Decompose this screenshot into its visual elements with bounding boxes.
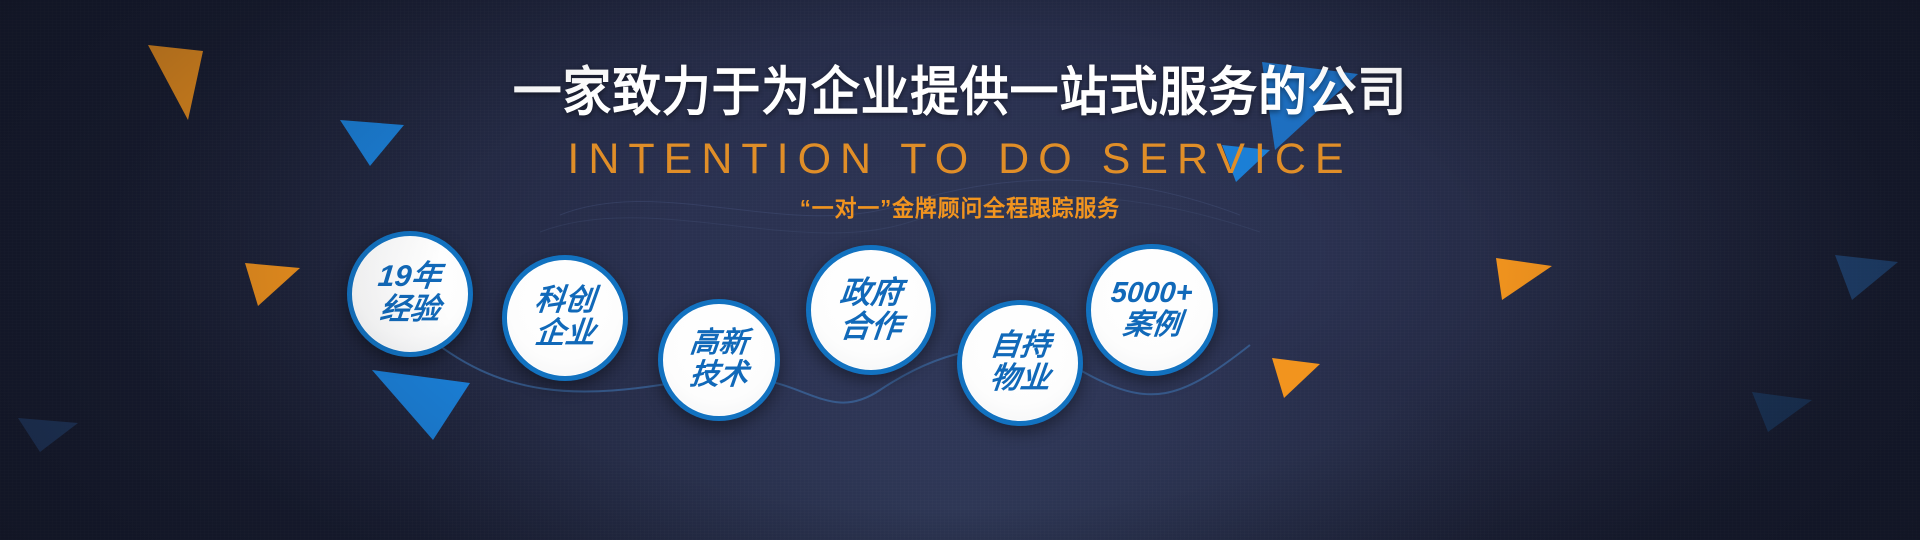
page-title: 一家致力于为企业提供一站式服务的公司 xyxy=(77,66,1843,119)
hero-banner: 一家致力于为企业提供一站式服务的公司 INTENTION TO DO SERVI… xyxy=(0,0,1920,540)
badge-high-tech[interactable]: 高新 技术 xyxy=(658,299,780,421)
triangle-blue-far-right xyxy=(1835,255,1898,300)
badge-tech-startup[interactable]: 科创 企业 xyxy=(502,255,628,381)
triangle-blue-far-left-bottom xyxy=(18,418,78,452)
badge-line2: 企业 xyxy=(533,319,596,350)
badge-line1: 高新 xyxy=(688,329,749,359)
triangle-orange-lower-right xyxy=(1272,358,1320,398)
badge-line1: 科创 xyxy=(533,286,596,317)
triangle-blue-far-right-lower xyxy=(1752,392,1812,432)
triangle-orange-mid-left xyxy=(245,263,300,306)
badge-line2: 物业 xyxy=(988,364,1051,395)
badge-gov-cooperation[interactable]: 政府 合作 xyxy=(806,245,936,375)
badge-line1: 19年 xyxy=(377,262,444,293)
triangle-blue-lower-left xyxy=(372,370,470,440)
badge-line1: 政府 xyxy=(838,277,903,309)
badge-line2: 合作 xyxy=(838,311,903,343)
badge-line2: 技术 xyxy=(688,361,749,391)
badge-years-experience[interactable]: 19年 经验 xyxy=(347,231,473,357)
badge-line2: 案例 xyxy=(1121,311,1182,341)
badge-own-property[interactable]: 自持 物业 xyxy=(957,300,1083,426)
subtitle-english: INTENTION TO DO SERVICE xyxy=(0,138,1920,181)
tagline: “一对一”金牌顾问全程跟踪服务 xyxy=(48,197,1872,220)
triangle-orange-mid-right xyxy=(1496,258,1552,300)
badge-case-count[interactable]: 5000+ 案例 xyxy=(1086,244,1218,376)
badge-line1: 5000+ xyxy=(1110,279,1195,309)
badge-line1: 自持 xyxy=(988,331,1051,362)
badge-line2: 经验 xyxy=(378,295,441,326)
